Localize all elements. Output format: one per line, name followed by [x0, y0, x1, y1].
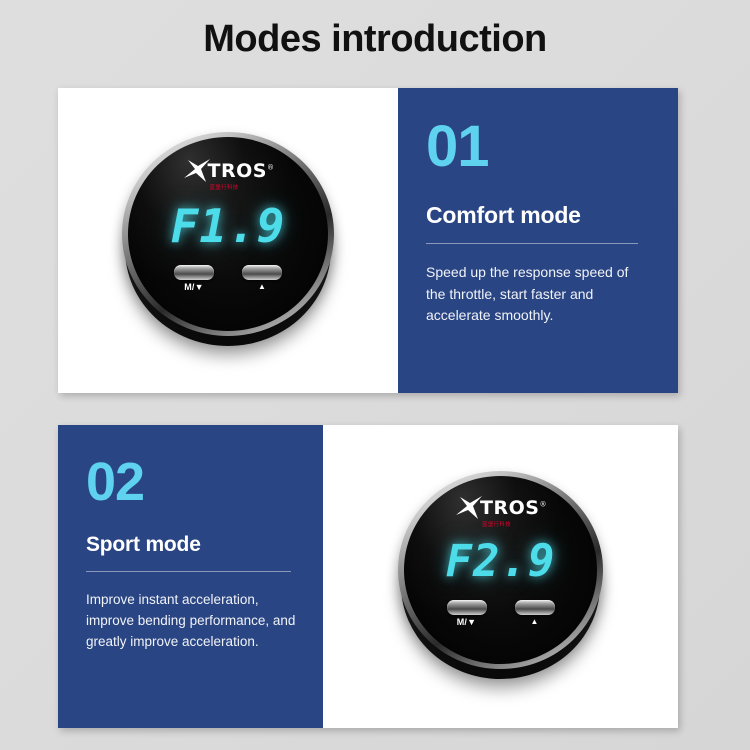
mode-title: Comfort mode	[426, 202, 650, 229]
device-chrome-rim: TROS® 蓝堡行科技 F1.9 M/▼ ▲	[122, 132, 334, 336]
mode-card-sport: 02 Sport mode Improve instant accelerati…	[58, 425, 678, 728]
step-number: 02	[86, 455, 295, 509]
mode-info-panel: 01 Comfort mode Speed up the response sp…	[398, 88, 678, 393]
mode-description: Speed up the response speed of the throt…	[426, 262, 641, 327]
led-display: F2.9	[404, 536, 597, 587]
device-face: TROS® 蓝堡行科技 F2.9 M/▼ ▲	[404, 476, 597, 664]
brand-logo: TROS® 蓝堡行科技	[404, 496, 597, 526]
mode-info-panel: 02 Sport mode Improve instant accelerati…	[58, 425, 323, 728]
up-button-cap[interactable]	[242, 265, 282, 280]
registered-mark-icon: ®	[539, 500, 547, 508]
mode-card-comfort: TROS® 蓝堡行科技 F1.9 M/▼ ▲	[58, 88, 678, 393]
mode-down-button-label: M/▼	[457, 618, 477, 627]
brand-subtext: 蓝堡行科技	[480, 520, 511, 528]
star-icon	[454, 495, 484, 521]
mode-down-button[interactable]: M/▼	[447, 600, 487, 627]
mode-down-button-cap[interactable]	[174, 265, 214, 280]
star-icon	[182, 158, 212, 184]
brand-wordmark: TROS®	[480, 499, 547, 518]
device-face: TROS® 蓝堡行科技 F1.9 M/▼ ▲	[128, 137, 328, 331]
brand-subtext: 蓝堡行科技	[208, 183, 239, 191]
mode-down-button[interactable]: M/▼	[174, 265, 214, 292]
mode-down-button-cap[interactable]	[447, 600, 487, 615]
device-button-row: M/▼ ▲	[404, 600, 597, 627]
up-button[interactable]: ▲	[242, 265, 282, 292]
divider	[426, 243, 638, 244]
device-button-row: M/▼ ▲	[128, 265, 328, 292]
registered-mark-icon: ®	[267, 163, 275, 171]
device-panel: TROS® 蓝堡行科技 F1.9 M/▼ ▲	[58, 88, 398, 393]
brand-wordmark: TROS®	[208, 162, 275, 181]
throttle-controller-device: TROS® 蓝堡行科技 F1.9 M/▼ ▲	[122, 132, 334, 350]
throttle-controller-device: TROS® 蓝堡行科技 F2.9 M/▼ ▲	[398, 471, 603, 683]
mode-down-button-label: M/▼	[184, 283, 204, 292]
mode-description: Improve instant acceleration, improve be…	[86, 590, 298, 653]
device-chrome-rim: TROS® 蓝堡行科技 F2.9 M/▼ ▲	[398, 471, 603, 669]
page-title: Modes introduction	[0, 18, 750, 61]
device-panel: TROS® 蓝堡行科技 F2.9 M/▼ ▲	[323, 425, 678, 728]
mode-title: Sport mode	[86, 533, 295, 557]
led-display: F1.9	[128, 199, 328, 253]
up-button-cap[interactable]	[515, 600, 555, 615]
up-button-label: ▲	[530, 618, 538, 626]
brand-logo: TROS® 蓝堡行科技	[128, 159, 328, 189]
divider	[86, 571, 291, 572]
up-button-label: ▲	[258, 283, 266, 291]
step-number: 01	[426, 118, 650, 176]
up-button[interactable]: ▲	[515, 600, 555, 627]
